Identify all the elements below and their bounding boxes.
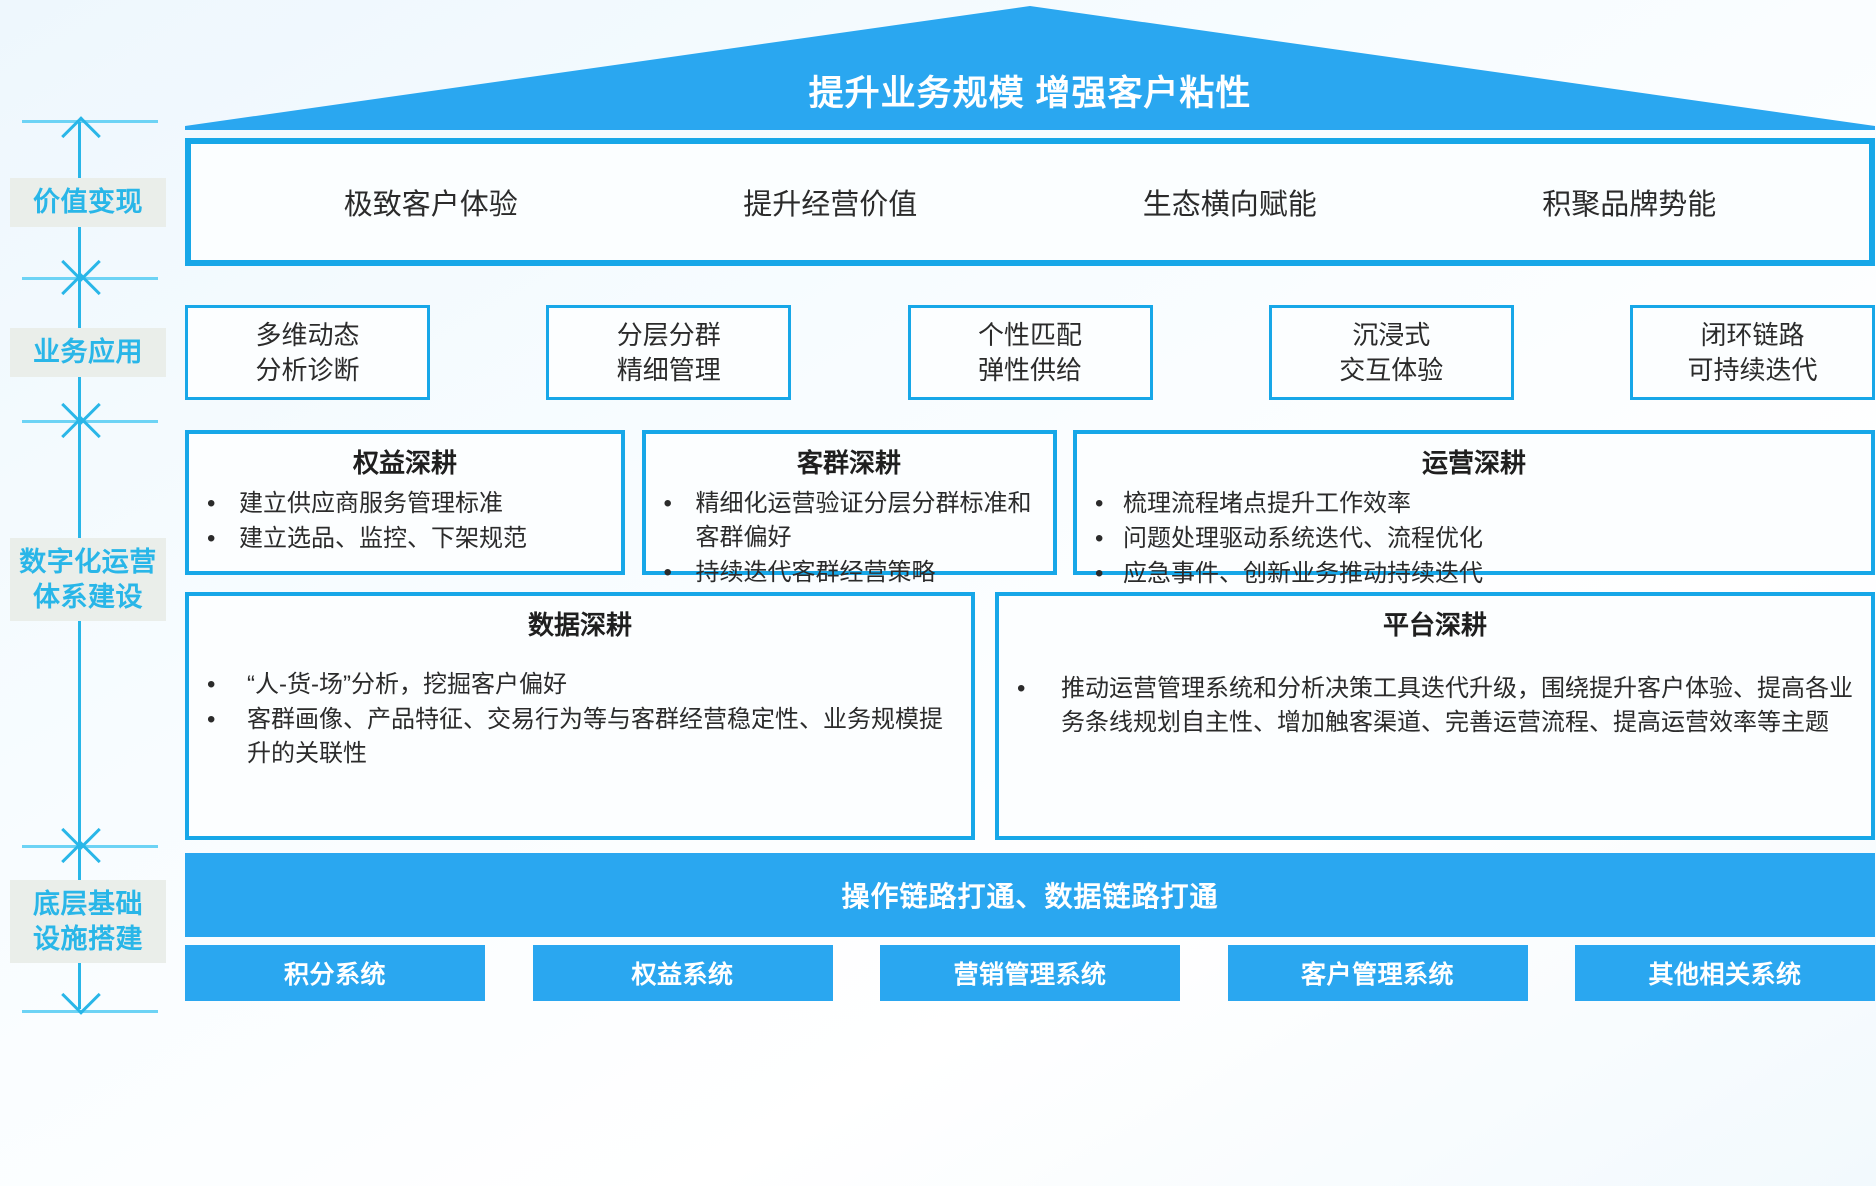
- rail-divider: [22, 1010, 158, 1013]
- roof-title: 提升业务规模 增强客户粘性: [185, 4, 1875, 130]
- list-item: • 梳理流程堵点提升工作效率: [1089, 487, 1859, 521]
- value-item: 提升经营价值: [743, 181, 917, 223]
- deep-cultivation-row-bottom: 数据深耕 • “人-货-场”分析，挖掘客户偏好 • 客群画像、产品特征、交易行为…: [185, 592, 1875, 840]
- system-box-marketing[interactable]: 营销管理系统: [880, 945, 1180, 1001]
- bullet-icon: •: [1089, 522, 1123, 556]
- app-box-line: 个性匹配: [978, 318, 1082, 352]
- app-box-multidimensional-analysis[interactable]: 多维动态 分析诊断: [185, 305, 430, 400]
- rail-label-infrastructure: 底层基础 设施搭建: [10, 880, 166, 963]
- value-item: 极致客户体验: [344, 181, 518, 223]
- till-box-rights[interactable]: 权益深耕 • 建立供应商服务管理标准 • 建立选品、监控、下架规范: [185, 430, 625, 575]
- till-box-title: 客群深耕: [658, 443, 1041, 480]
- list-item: • 应急事件、创新业务推动持续迭代: [1089, 557, 1859, 591]
- bullet-icon: •: [1089, 487, 1123, 521]
- rail-label-line: 价值变现: [10, 185, 166, 220]
- list-item-text: 问题处理驱动系统迭代、流程优化: [1123, 522, 1859, 556]
- rail-arrow-digital-ops: [78, 422, 81, 844]
- app-box-immersive-interaction[interactable]: 沉浸式 交互体验: [1269, 305, 1514, 400]
- bullet-icon: •: [1089, 557, 1123, 591]
- bullet-icon: •: [658, 556, 696, 590]
- list-item: • “人-货-场”分析，挖掘客户偏好: [201, 668, 959, 702]
- list-item: • 精细化运营验证分层分群标准和客群偏好: [658, 487, 1041, 555]
- system-box-other[interactable]: 其他相关系统: [1575, 945, 1875, 1001]
- till-box-title: 数据深耕: [201, 605, 959, 642]
- till-box-customer-group[interactable]: 客群深耕 • 精细化运营验证分层分群标准和客群偏好 • 持续迭代客群经营策略: [642, 430, 1057, 575]
- till-box-data[interactable]: 数据深耕 • “人-货-场”分析，挖掘客户偏好 • 客群画像、产品特征、交易行为…: [185, 592, 975, 840]
- list-item: • 客群画像、产品特征、交易行为等与客群经营稳定性、业务规模提升的关联性: [201, 703, 959, 771]
- till-box-title: 运营深耕: [1089, 443, 1859, 480]
- stage-rail: 价值变现 业务应用 数字化运营 体系建设 底层基础 设施搭建: [0, 0, 180, 1186]
- system-box-points[interactable]: 积分系统: [185, 945, 485, 1001]
- rail-label-line: 体系建设: [10, 580, 166, 615]
- app-box-line: 分析诊断: [255, 353, 359, 387]
- list-item: • 建立供应商服务管理标准: [201, 487, 609, 521]
- list-item-text: 推动运营管理系统和分析决策工具迭代升级，围绕提升客户体验、提高各业务条线规划自主…: [1061, 672, 1859, 740]
- list-item-text: 客群画像、产品特征、交易行为等与客群经营稳定性、业务规模提升的关联性: [247, 703, 959, 771]
- rail-label-line: 设施搭建: [10, 922, 166, 957]
- till-box-list: • 建立供应商服务管理标准 • 建立选品、监控、下架规范: [201, 487, 609, 557]
- rail-label-line: 底层基础: [10, 887, 166, 922]
- rail-label-value-realization: 价值变现: [10, 178, 166, 227]
- value-item: 生态横向赋能: [1143, 181, 1317, 223]
- app-box-line: 交互体验: [1339, 353, 1443, 387]
- till-box-list: • “人-货-场”分析，挖掘客户偏好 • 客群画像、产品特征、交易行为等与客群经…: [201, 668, 959, 772]
- app-box-line: 弹性供给: [978, 353, 1082, 387]
- list-item-text: 建立选品、监控、下架规范: [239, 522, 609, 556]
- system-box-customer[interactable]: 客户管理系统: [1228, 945, 1528, 1001]
- system-box-rights[interactable]: 权益系统: [533, 945, 833, 1001]
- list-item-text: 应急事件、创新业务推动持续迭代: [1123, 557, 1859, 591]
- app-box-line: 可持续迭代: [1687, 353, 1817, 387]
- business-application-row: 多维动态 分析诊断 分层分群 精细管理 个性匹配 弹性供给 沉浸式 交互体验 闭…: [185, 305, 1875, 400]
- deep-cultivation-row-top: 权益深耕 • 建立供应商服务管理标准 • 建立选品、监控、下架规范 客群深耕 •…: [185, 430, 1875, 575]
- rail-label-line: 业务应用: [10, 335, 166, 370]
- list-item-text: “人-货-场”分析，挖掘客户偏好: [247, 668, 959, 702]
- bullet-icon: •: [1011, 672, 1061, 740]
- rail-label-digital-ops-system: 数字化运营 体系建设: [10, 538, 166, 621]
- list-item-text: 精细化运营验证分层分群标准和客群偏好: [696, 487, 1041, 555]
- app-box-line: 闭环链路: [1700, 318, 1804, 352]
- bullet-icon: •: [201, 703, 247, 771]
- list-item-text: 持续迭代客群经营策略: [696, 556, 1041, 590]
- app-box-line: 精细管理: [617, 353, 721, 387]
- rail-divider: [22, 420, 158, 423]
- system-row: 积分系统 权益系统 营销管理系统 客户管理系统 其他相关系统: [185, 945, 1875, 1001]
- till-box-list: • 梳理流程堵点提升工作效率 • 问题处理驱动系统迭代、流程优化 • 应急事件、…: [1089, 487, 1859, 592]
- bullet-icon: •: [201, 668, 247, 702]
- link-through-bar: 操作链路打通、数据链路打通: [185, 853, 1875, 937]
- value-item: 积聚品牌势能: [1542, 181, 1716, 223]
- till-box-list: • 精细化运营验证分层分群标准和客群偏好 • 持续迭代客群经营策略: [658, 487, 1041, 591]
- rail-divider: [22, 845, 158, 848]
- app-box-line: 分层分群: [617, 318, 721, 352]
- list-item: • 持续迭代客群经营策略: [658, 556, 1041, 590]
- link-through-bar-label: 操作链路打通、数据链路打通: [841, 875, 1218, 915]
- bullet-icon: •: [201, 487, 239, 521]
- list-item-text: 梳理流程堵点提升工作效率: [1123, 487, 1859, 521]
- app-box-personalized-matching[interactable]: 个性匹配 弹性供给: [908, 305, 1153, 400]
- bullet-icon: •: [658, 487, 696, 555]
- rail-divider: [22, 120, 158, 123]
- app-box-line: 多维动态: [255, 318, 359, 352]
- list-item: • 建立选品、监控、下架规范: [201, 522, 609, 556]
- till-box-list: • 推动运营管理系统和分析决策工具迭代升级，围绕提升客户体验、提高各业务条线规划…: [1011, 672, 1859, 741]
- app-box-closed-loop-iteration[interactable]: 闭环链路 可持续迭代: [1630, 305, 1875, 400]
- value-realization-band: 极致客户体验 提升经营价值 生态横向赋能 积聚品牌势能: [185, 138, 1875, 266]
- list-item-text: 建立供应商服务管理标准: [239, 487, 609, 521]
- list-item: • 问题处理驱动系统迭代、流程优化: [1089, 522, 1859, 556]
- till-box-platform[interactable]: 平台深耕 • 推动运营管理系统和分析决策工具迭代升级，围绕提升客户体验、提高各业…: [995, 592, 1875, 840]
- bullet-icon: •: [201, 522, 239, 556]
- diagram-main: 提升业务规模 增强客户粘性 极致客户体验 提升经营价值 生态横向赋能 积聚品牌势…: [185, 0, 1876, 1186]
- till-box-title: 平台深耕: [1011, 605, 1859, 642]
- rail-label-line: 数字化运营: [10, 545, 166, 580]
- rail-divider: [22, 277, 158, 280]
- rail-label-business-application: 业务应用: [10, 328, 166, 377]
- roof-banner: 提升业务规模 增强客户粘性: [185, 4, 1875, 130]
- list-item: • 推动运营管理系统和分析决策工具迭代升级，围绕提升客户体验、提高各业务条线规划…: [1011, 672, 1859, 740]
- till-box-operations[interactable]: 运营深耕 • 梳理流程堵点提升工作效率 • 问题处理驱动系统迭代、流程优化 • …: [1073, 430, 1875, 575]
- till-box-title: 权益深耕: [201, 443, 609, 480]
- app-box-segmentation-management[interactable]: 分层分群 精细管理: [546, 305, 791, 400]
- app-box-line: 沉浸式: [1352, 318, 1430, 352]
